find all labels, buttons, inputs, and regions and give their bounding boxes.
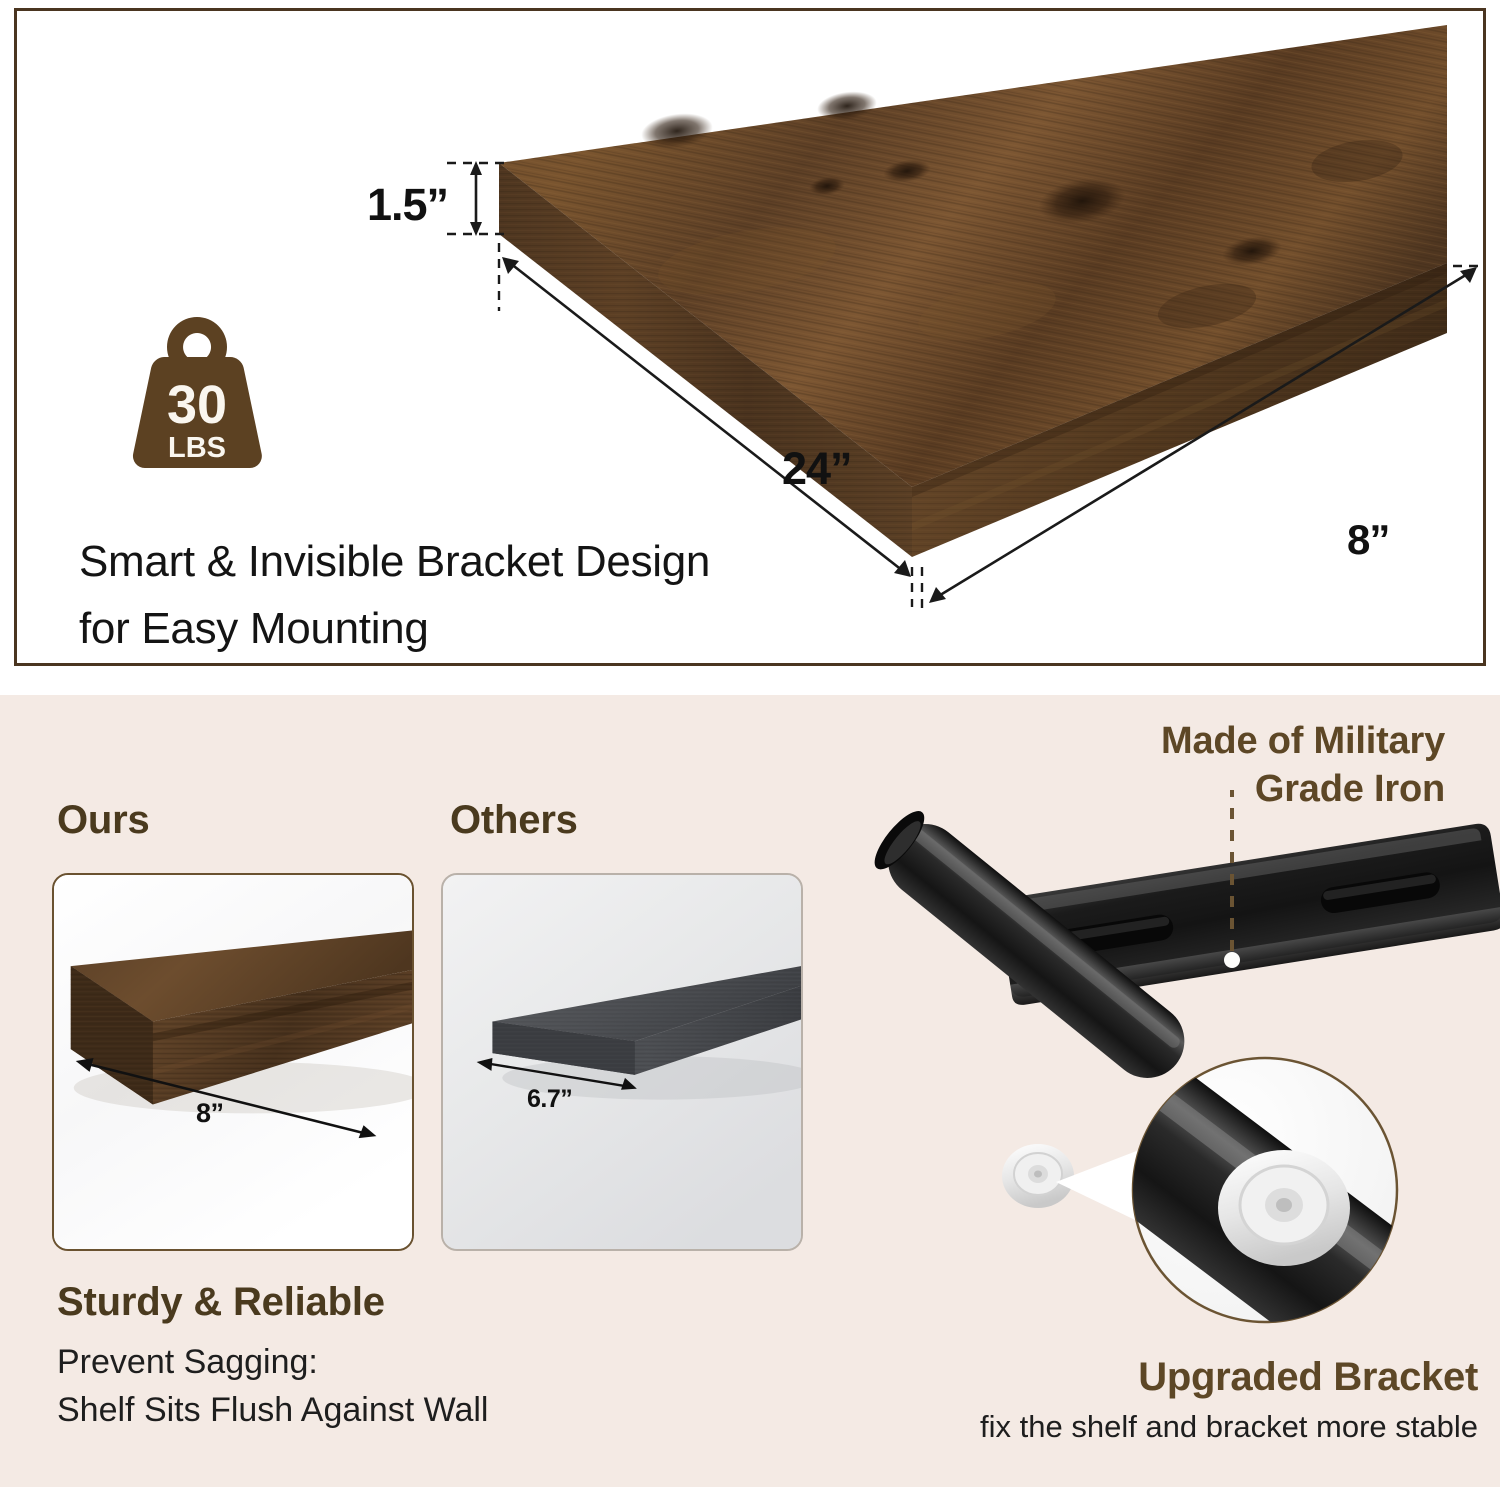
- dimension-label-thickness: 1.5”: [367, 179, 448, 231]
- bottom-panel: Ours Others: [0, 695, 1500, 1487]
- others-depth-label: 6.7”: [527, 1085, 572, 1114]
- product-infographic: 1.5” 24” 8” 30 LBS Smart & Invisible Bra…: [0, 0, 1500, 1487]
- bracket-illustration: [860, 790, 1500, 1370]
- weight-value-text: 30: [167, 375, 227, 435]
- ours-depth-label: 8”: [196, 1098, 224, 1129]
- dimension-label-depth: 8”: [1347, 516, 1389, 564]
- comparison-card-others: [441, 873, 803, 1251]
- comparison-heading-others: Others: [450, 798, 578, 843]
- comparison-heading-ours: Ours: [57, 798, 150, 843]
- sturdy-heading: Sturdy & Reliable: [57, 1280, 385, 1325]
- upgraded-bracket-subtext: fix the shelf and bracket more stable: [758, 1409, 1478, 1445]
- bracket-material-line-1: Made of Military: [845, 717, 1445, 765]
- top-panel: 1.5” 24” 8” 30 LBS Smart & Invisible Bra…: [14, 8, 1486, 666]
- weight-capacity-icon: 30 LBS: [112, 311, 282, 491]
- headline-line-2: for Easy Mounting: [79, 596, 939, 663]
- upgraded-bracket-heading: Upgraded Bracket: [778, 1355, 1478, 1400]
- page-title: Smart & Invisible Bracket Design for Eas…: [79, 529, 939, 663]
- sturdy-line-2: Shelf Sits Flush Against Wall: [57, 1386, 488, 1434]
- dimension-label-length: 24”: [782, 443, 852, 495]
- comparison-card-ours: [52, 873, 414, 1251]
- weight-unit-text: LBS: [168, 432, 226, 464]
- sturdy-line-1: Prevent Sagging:: [57, 1338, 488, 1386]
- headline-line-1: Smart & Invisible Bracket Design: [79, 529, 939, 596]
- sturdy-description: Prevent Sagging: Shelf Sits Flush Agains…: [57, 1338, 488, 1435]
